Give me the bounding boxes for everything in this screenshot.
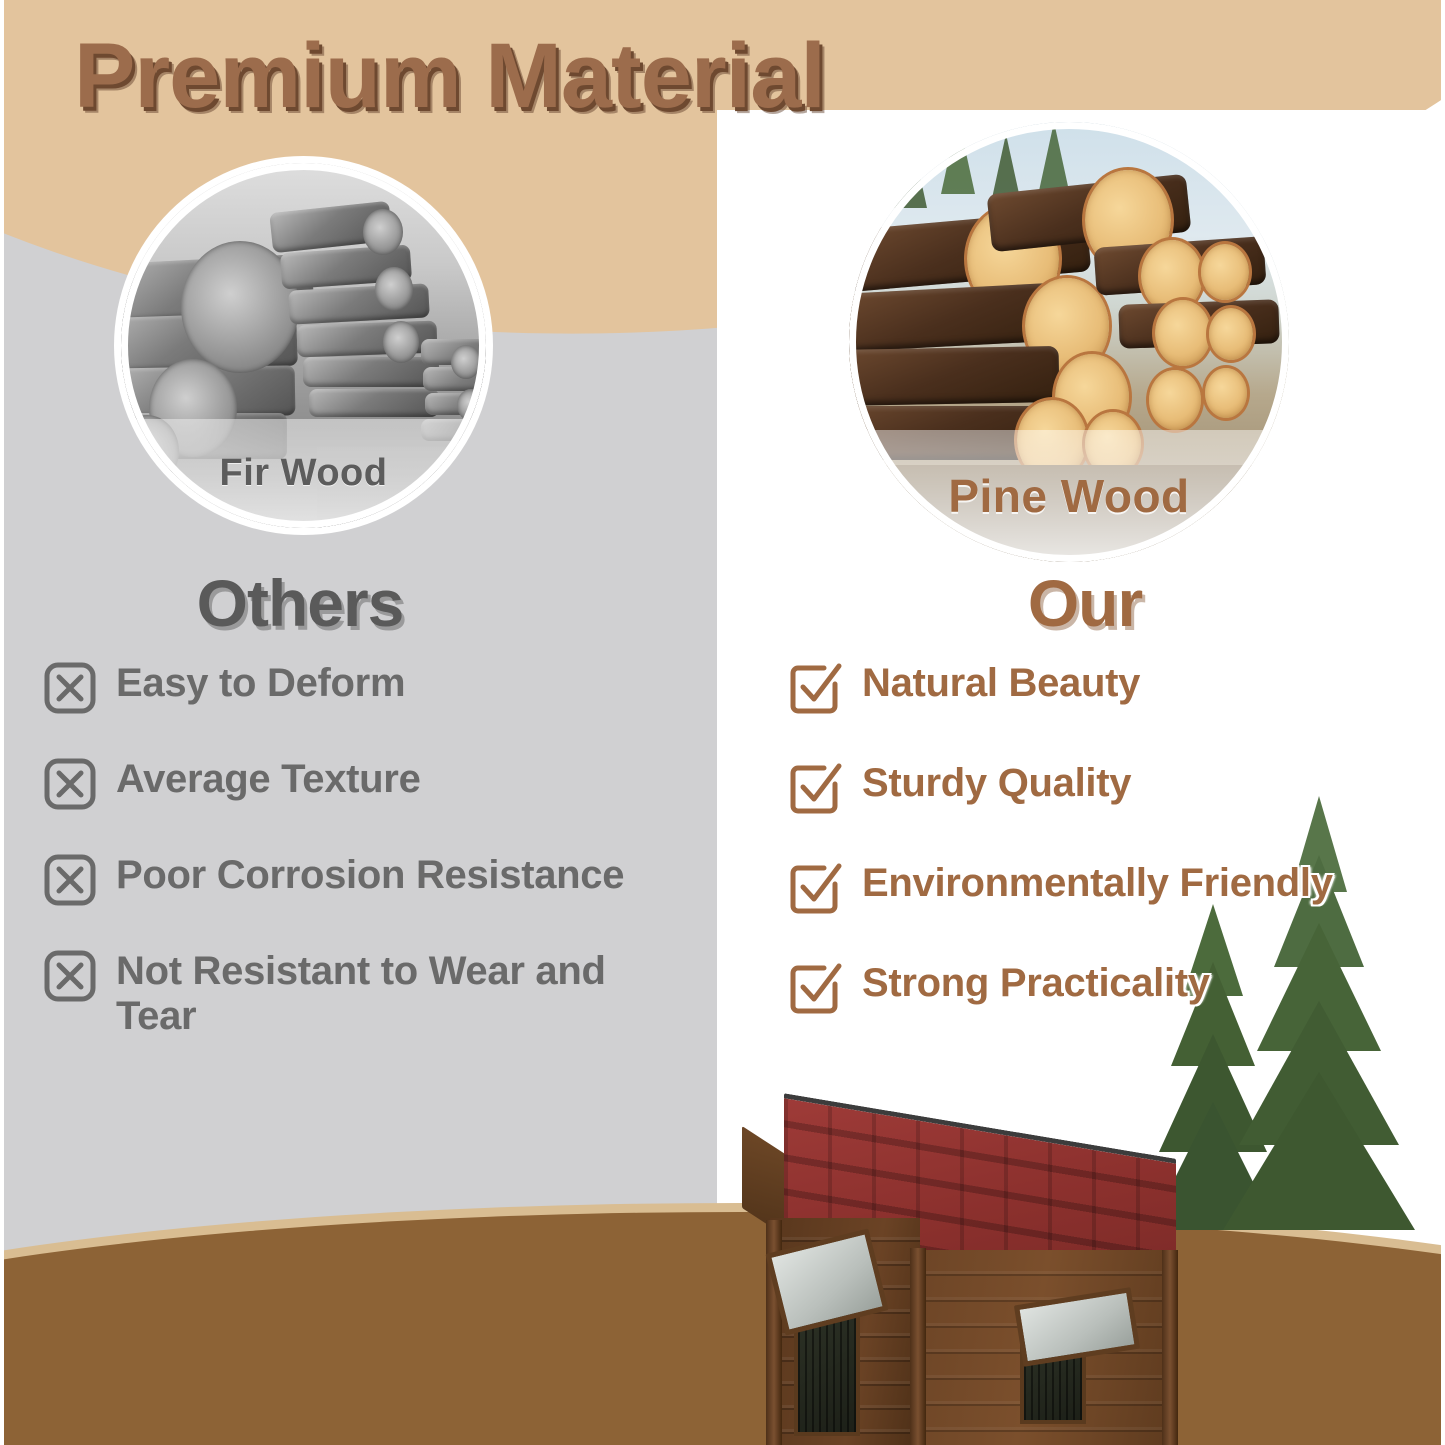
x-mark-icon — [44, 854, 96, 906]
footer-brown-sweep — [0, 1212, 1445, 1445]
list-item: Easy to Deform — [44, 660, 704, 712]
list-item-label: Sturdy Quality — [862, 760, 1131, 806]
fir-wood-caption: Fir Wood — [121, 419, 486, 529]
check-box-icon — [790, 862, 842, 914]
list-item: Environmentally Friendly — [790, 860, 1430, 912]
list-item-label: Environmentally Friendly — [862, 860, 1333, 906]
list-item: Natural Beauty — [790, 660, 1430, 712]
list-item: Strong Practicality — [790, 960, 1430, 1012]
list-item-label: Easy to Deform — [116, 660, 405, 706]
page-title: Premium Material — [74, 24, 825, 129]
list-item-label: Not Resistant to Wear and Tear — [116, 948, 676, 1039]
list-item: Sturdy Quality — [790, 760, 1430, 812]
check-box-icon — [790, 762, 842, 814]
list-item: Not Resistant to Wear and Tear — [44, 948, 704, 1039]
x-mark-icon — [44, 662, 96, 714]
right-margin-edge — [1441, 0, 1445, 1445]
pine-wood-circle: Pine Wood — [849, 122, 1289, 562]
fir-wood-circle: Fir Wood — [121, 163, 486, 528]
check-box-icon — [790, 662, 842, 714]
others-feature-list: Easy to Deform Average Texture Poor Corr… — [44, 660, 704, 1083]
list-item: Average Texture — [44, 756, 704, 808]
wooden-dog-house-photo — [742, 1100, 1212, 1445]
pine-wood-caption: Pine Wood — [849, 430, 1289, 562]
list-item: Poor Corrosion Resistance — [44, 852, 704, 904]
others-heading: Others — [0, 565, 600, 641]
list-item-label: Strong Practicality — [862, 960, 1210, 1006]
left-margin-edge — [0, 0, 4, 1445]
list-item-label: Natural Beauty — [862, 660, 1140, 706]
infographic-canvas: Premium Material — [0, 0, 1445, 1445]
check-box-icon — [790, 962, 842, 1014]
our-feature-list: Natural Beauty Sturdy Quality Environmen… — [790, 660, 1430, 1060]
list-item-label: Average Texture — [116, 756, 421, 802]
x-mark-icon — [44, 950, 96, 1002]
our-heading: Our — [850, 565, 1320, 641]
x-mark-icon — [44, 758, 96, 810]
list-item-label: Poor Corrosion Resistance — [116, 852, 624, 898]
